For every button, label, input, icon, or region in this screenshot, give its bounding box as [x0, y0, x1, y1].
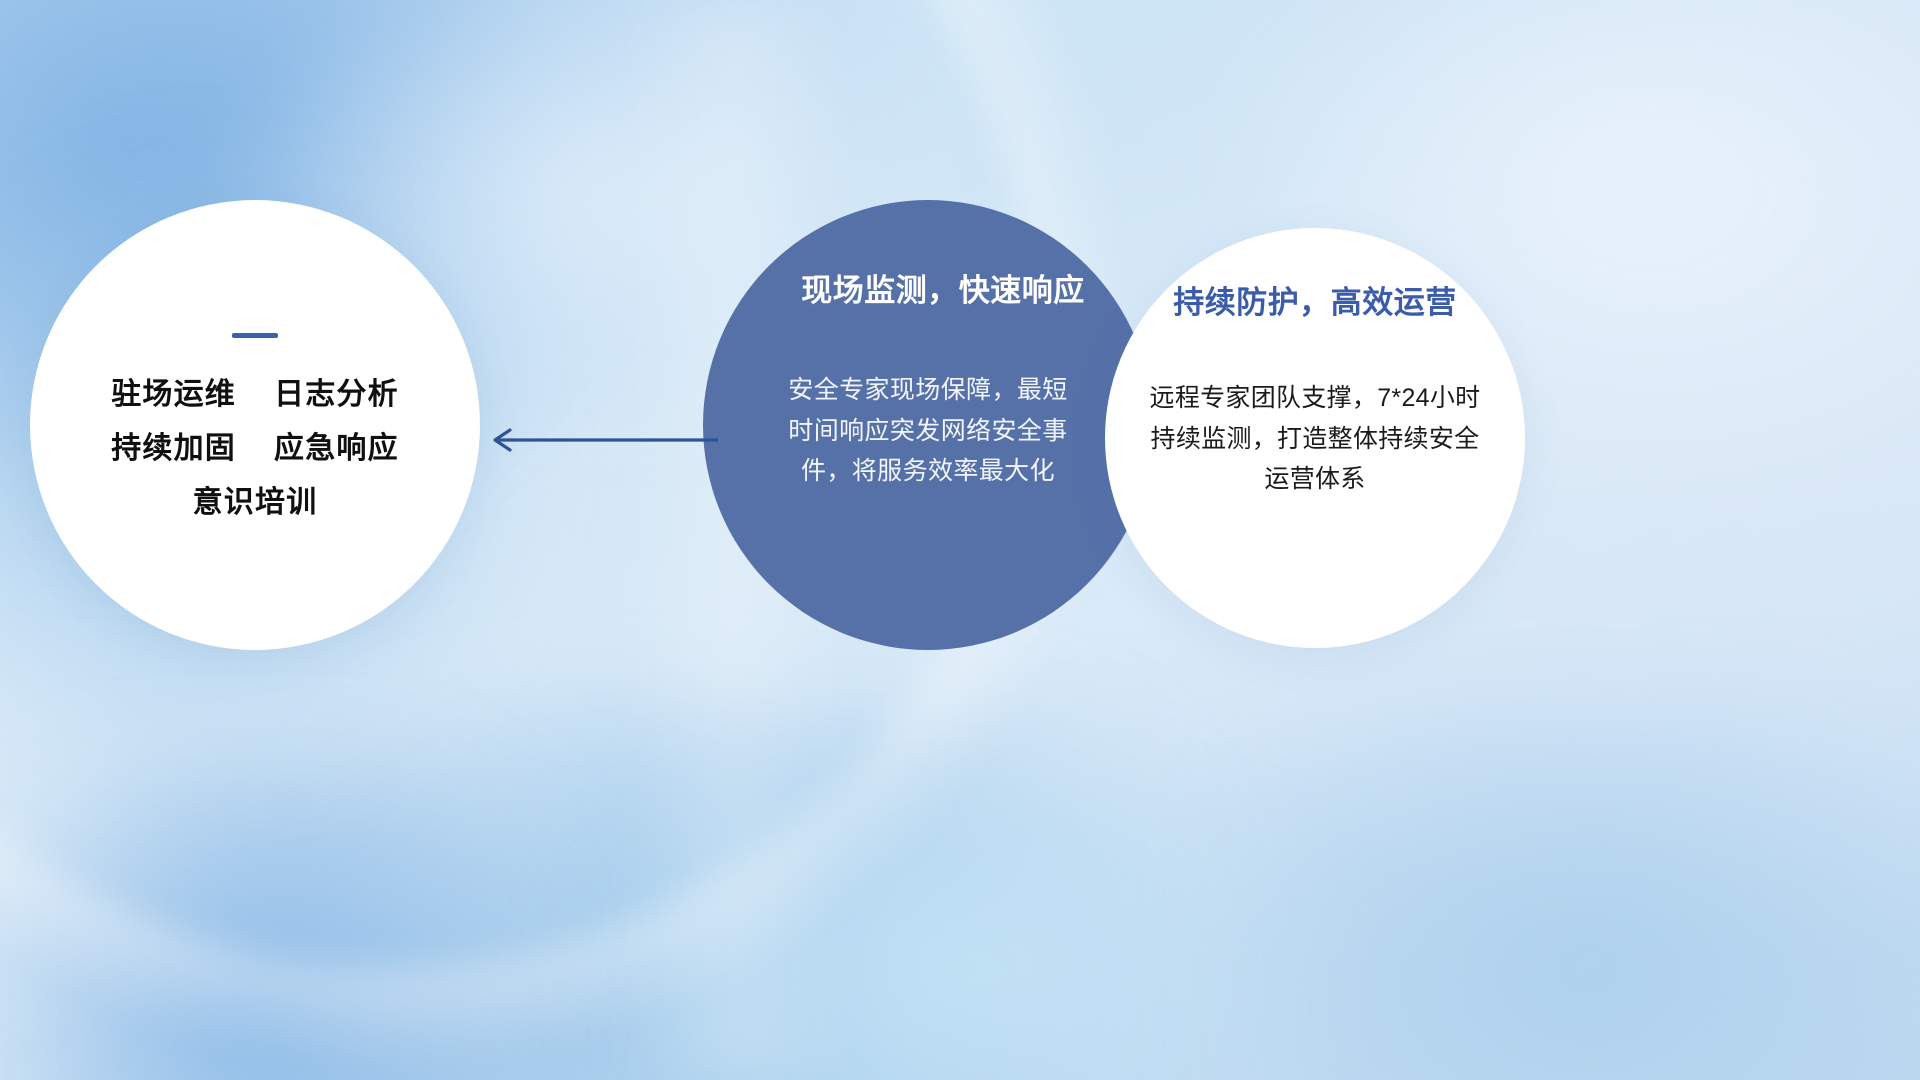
left-circle-content: 驻场运维 日志分析 持续加固 应急响应 意识培训: [30, 200, 480, 650]
middle-circle-body: 安全专家现场保障，最短时间响应突发网络安全事件，将服务效率最大化: [783, 370, 1073, 492]
right-circle-title: 持续防护，高效运营: [1173, 286, 1457, 320]
left-circle-keyword-list: 驻场运维 日志分析 持续加固 应急响应 意识培训: [111, 380, 399, 518]
keyword-item: 日志分析: [274, 380, 399, 410]
middle-highlight-circle: 现场监测，快速响应 安全专家现场保障，最短时间响应突发网络安全事件，将服务效率最…: [703, 200, 1153, 650]
left-service-circle: 驻场运维 日志分析 持续加固 应急响应 意识培训: [30, 200, 480, 650]
right-service-circle: 持续防护，高效运营 远程专家团队支撑，7*24小时持续监测，打造整体持续安全运营…: [1105, 228, 1525, 648]
right-circle-body: 远程专家团队支撑，7*24小时持续监测，打造整体持续安全运营体系: [1140, 378, 1490, 500]
keyword-row: 持续加固 应急响应: [111, 434, 399, 464]
keyword-item: 应急响应: [274, 434, 399, 464]
keyword-row: 意识培训: [193, 488, 318, 518]
dash-divider-icon: [232, 333, 278, 338]
flow-arrow-left-icon: [480, 418, 720, 462]
keyword-item: 意识培训: [193, 488, 318, 518]
keyword-item: 驻场运维: [111, 380, 236, 410]
keyword-item: 持续加固: [111, 434, 236, 464]
middle-circle-content: 现场监测，快速响应 安全专家现场保障，最短时间响应突发网络安全事件，将服务效率最…: [703, 200, 1153, 650]
keyword-row: 驻场运维 日志分析: [111, 380, 399, 410]
middle-circle-title: 现场监测，快速响应: [801, 274, 1085, 308]
background-blob: [1220, 700, 1920, 1080]
right-circle-content: 持续防护，高效运营 远程专家团队支撑，7*24小时持续监测，打造整体持续安全运营…: [1105, 228, 1525, 648]
